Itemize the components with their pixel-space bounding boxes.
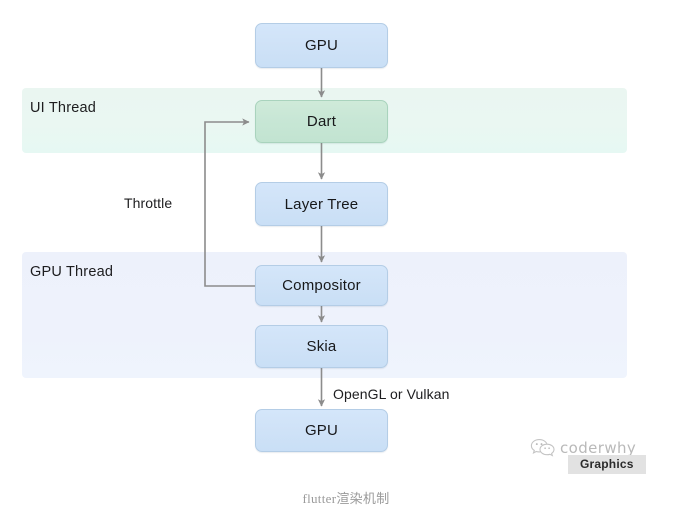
diagram-caption: flutter渲染机制 [0, 488, 692, 507]
node-layer-tree[interactable]: Layer Tree [255, 182, 388, 226]
node-gpu-bottom[interactable]: GPU [255, 409, 388, 452]
node-dart[interactable]: Dart [255, 100, 388, 143]
diagram-canvas: UI Thread GPU Thread [0, 0, 692, 519]
node-gpu-top[interactable]: GPU [255, 23, 388, 68]
edge-label-throttle: Throttle [124, 195, 172, 211]
watermark: coderwhy Graphics [530, 438, 670, 480]
swimlane-label-gpu-thread: GPU Thread [30, 264, 113, 280]
wechat-icon [530, 438, 556, 458]
node-compositor[interactable]: Compositor [255, 265, 388, 306]
watermark-tag-label: Graphics [568, 455, 646, 474]
swimlane-label-ui-thread: UI Thread [30, 100, 96, 116]
edge-label-opengl-or-vulkan: OpenGL or Vulkan [333, 386, 450, 402]
node-skia[interactable]: Skia [255, 325, 388, 368]
